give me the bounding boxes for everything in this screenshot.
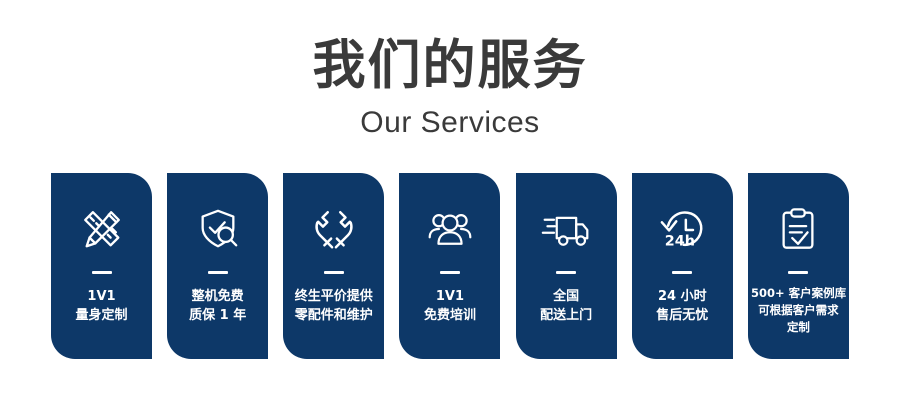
- shield-check-search-icon: [189, 203, 247, 255]
- 24h-clock-arrow-icon: 24h: [653, 203, 711, 255]
- clipboard-checklist-icon: [769, 203, 827, 255]
- service-card-free-training[interactable]: 1V1 免费培训: [399, 173, 500, 359]
- services-section: 我们的服务 Our Services 1V1 量身定制: [0, 0, 900, 416]
- label-line-1: 终生平价提供: [286, 287, 381, 306]
- service-card-label: 24 小时 售后无忧: [632, 287, 733, 325]
- service-card-label: 整机免费 质保 1 年: [167, 287, 268, 325]
- label-line-1: 1V1: [54, 287, 149, 306]
- delivery-truck-icon: [537, 203, 595, 255]
- label-line-2: 零配件和维护: [286, 306, 381, 325]
- card-divider: [440, 271, 460, 274]
- service-card-label: 500+ 客户案例库 可根据客户需求 定制: [748, 285, 849, 336]
- label-line-2: 配送上门: [519, 306, 614, 325]
- service-card-parts-maintenance[interactable]: 终生平价提供 零配件和维护: [283, 173, 384, 359]
- page-subtitle: Our Services: [0, 96, 900, 141]
- label-line-1: 500+ 客户案例库: [751, 285, 846, 302]
- section-header: 我们的服务 Our Services: [0, 0, 900, 141]
- service-card-label: 1V1 量身定制: [51, 287, 152, 325]
- service-card-case-library[interactable]: 500+ 客户案例库 可根据客户需求 定制: [748, 173, 849, 359]
- card-divider: [92, 271, 112, 274]
- label-line-1: 24 小时: [635, 287, 730, 306]
- label-line-1: 1V1: [402, 287, 497, 306]
- card-divider: [556, 271, 576, 274]
- label-line-2: 免费培训: [402, 306, 497, 325]
- svg-text:24h: 24h: [665, 233, 695, 249]
- service-card-list: 1V1 量身定制 整机免费 质保 1 年: [51, 173, 849, 359]
- service-card-nationwide-delivery[interactable]: 全国 配送上门: [516, 173, 617, 359]
- label-line-1: 全国: [519, 287, 614, 306]
- wrench-screwdriver-icon: [305, 203, 363, 255]
- card-divider: [208, 271, 228, 274]
- card-divider: [672, 271, 692, 274]
- label-line-1: 整机免费: [170, 287, 265, 306]
- label-line-2: 量身定制: [54, 306, 149, 325]
- service-card-label: 终生平价提供 零配件和维护: [283, 287, 384, 325]
- service-card-label: 全国 配送上门: [516, 287, 617, 325]
- page-title: 我们的服务: [0, 0, 900, 96]
- card-divider: [788, 271, 808, 274]
- service-card-label: 1V1 免费培训: [399, 287, 500, 325]
- ruler-pencil-icon: [73, 203, 131, 255]
- label-line-2: 质保 1 年: [170, 306, 265, 325]
- label-line-2: 可根据客户需求: [751, 302, 846, 319]
- users-group-icon: [421, 203, 479, 255]
- label-line-2: 售后无忧: [635, 306, 730, 325]
- service-card-24h-support[interactable]: 24h 24 小时 售后无忧: [632, 173, 733, 359]
- card-divider: [324, 271, 344, 274]
- label-line-3: 定制: [751, 319, 846, 336]
- service-card-1v1-custom[interactable]: 1V1 量身定制: [51, 173, 152, 359]
- service-card-warranty[interactable]: 整机免费 质保 1 年: [167, 173, 268, 359]
